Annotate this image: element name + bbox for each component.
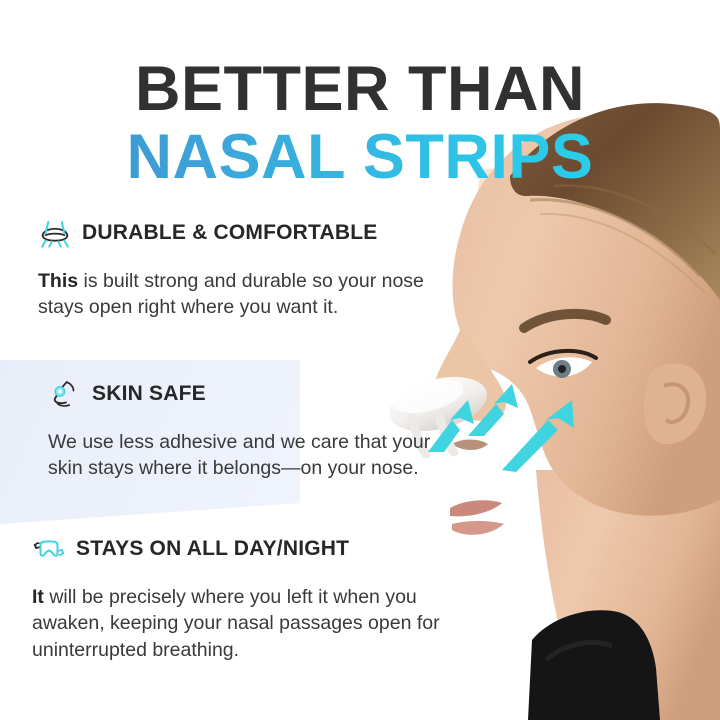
feature-body-lead: It — [32, 586, 44, 608]
feature-stays-on-all-day-night: STAYS ON ALL DAY/NIGHT It will be precis… — [32, 534, 452, 683]
feature-skin-safe: SKIN SAFE We use less adhesive and we ca… — [48, 379, 448, 501]
nasal-dilator-airflow-icon — [38, 218, 72, 248]
feature-title: STAYS ON ALL DAY/NIGHT — [76, 537, 349, 561]
feature-body-text: We use less adhesive and we care that yo… — [48, 431, 430, 480]
feature-header: STAYS ON ALL DAY/NIGHT — [32, 534, 452, 564]
headline-line-2: NASAL STRIPS — [0, 127, 720, 189]
feature-header: DURABLE & COMFORTABLE — [38, 218, 438, 248]
page-title: BETTER THAN NASAL STRIPS — [0, 59, 720, 188]
feature-body-lead: This — [38, 270, 78, 292]
feature-body-text: is built strong and durable so your nose… — [38, 270, 424, 319]
feature-body: It will be precisely where you left it w… — [32, 584, 452, 664]
nose-profile-icon — [48, 379, 82, 409]
infographic-root: BETTER THAN NASAL STRIPS DURABLE & COMFO… — [0, 0, 720, 720]
feature-body: This is built strong and durable so your… — [38, 268, 438, 321]
nasal-clip-cycle-icon — [32, 534, 66, 564]
feature-header: SKIN SAFE — [48, 379, 448, 409]
feature-durable-comfortable: DURABLE & COMFORTABLE This is built stro… — [38, 218, 438, 340]
feature-title: SKIN SAFE — [92, 382, 206, 406]
feature-body: We use less adhesive and we care that yo… — [48, 429, 448, 482]
feature-body-text: will be precisely where you left it when… — [32, 586, 440, 661]
headline-line-1: BETTER THAN — [0, 59, 720, 121]
feature-title: DURABLE & COMFORTABLE — [82, 221, 377, 245]
